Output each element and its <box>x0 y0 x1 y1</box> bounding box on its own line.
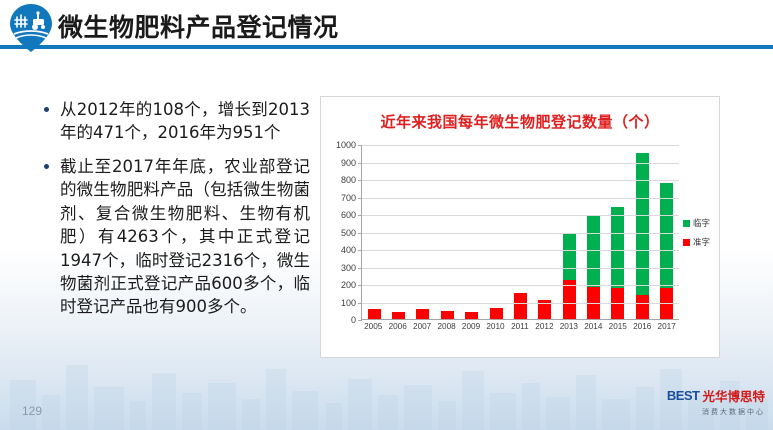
y-axis-tick <box>358 180 362 181</box>
gridline <box>362 145 679 146</box>
y-axis-tick-label: 700 <box>341 193 356 203</box>
gridline <box>362 198 679 199</box>
bar-segment-linzi[interactable] <box>563 234 576 280</box>
bar-segment-zhunzi[interactable] <box>490 308 503 319</box>
gridline <box>362 215 679 216</box>
header-rule-left <box>0 45 46 49</box>
bar-segment-zhunzi[interactable] <box>416 309 429 319</box>
bar-segment-zhunzi[interactable] <box>660 288 673 319</box>
y-axis-tick-label: 300 <box>341 263 356 273</box>
legend-swatch-red <box>683 239 690 246</box>
y-axis-tick <box>358 215 362 216</box>
x-axis-tick-label: 2017 <box>656 322 678 331</box>
y-axis-tick-label: 500 <box>341 228 356 238</box>
bar-segment-linzi[interactable] <box>636 153 649 295</box>
legend-item-zhunzi: 准字 <box>683 236 723 248</box>
legend-label: 临字 <box>693 217 710 229</box>
y-axis-tick <box>358 285 362 286</box>
y-axis-tick <box>358 268 362 269</box>
slide-canvas: 微生物肥料产品登记情况 从2012年的108个，增长到2013年的471个，20… <box>0 0 773 430</box>
y-axis-tick-label: 600 <box>341 210 356 220</box>
page-title: 微生物肥料产品登记情况 <box>58 8 339 44</box>
y-axis-tick <box>358 198 362 199</box>
x-axis-tick-label: 2011 <box>509 322 531 331</box>
legend-label: 准字 <box>693 236 710 248</box>
x-axis-tick-label: 2016 <box>631 322 653 331</box>
bar-segment-zhunzi[interactable] <box>514 293 527 319</box>
chart-panel: 近年来我国每年微生物肥登记数量（个） 100090080070060050040… <box>320 96 720 358</box>
y-axis-tick-label: 200 <box>341 280 356 290</box>
gridline <box>362 250 679 251</box>
gridline <box>362 303 679 304</box>
gridline <box>362 233 679 234</box>
y-axis-tick-label: 100 <box>341 298 356 308</box>
gridline <box>362 180 679 181</box>
bar-segment-zhunzi[interactable] <box>465 312 478 319</box>
y-axis-tick <box>358 145 362 146</box>
y-axis-tick <box>358 303 362 304</box>
legend-swatch-green <box>683 220 690 227</box>
legend-item-linzi: 临字 <box>683 217 723 229</box>
y-axis-tick-label: 400 <box>341 245 356 255</box>
gridline <box>362 285 679 286</box>
page-number: 129 <box>22 404 42 418</box>
footer-brand-logo: BEST 光华博思特 消费大数据中心 <box>657 386 765 422</box>
bullet-item: 从2012年的108个，增长到2013年的471个，2016年为951个 <box>42 98 310 145</box>
y-axis-labels: 10009008007006005004003002001000 <box>325 145 359 320</box>
bar-segment-zhunzi[interactable] <box>611 288 624 319</box>
x-axis-tick-label: 2008 <box>436 322 458 331</box>
bullet-item: 截止至2017年年底，农业部登记的微生物肥料产品（包括微生物菌剂、复合微生物肥料… <box>42 155 310 319</box>
x-axis-tick-label: 2009 <box>460 322 482 331</box>
bar-segment-zhunzi[interactable] <box>392 312 405 319</box>
plot-grid <box>361 145 679 320</box>
bar-segment-zhunzi[interactable] <box>441 311 454 319</box>
y-axis-tick <box>358 163 362 164</box>
gridline <box>362 163 679 164</box>
y-axis-tick-label: 900 <box>341 158 356 168</box>
bar-segment-zhunzi[interactable] <box>636 295 649 320</box>
chart-plot-area: 10009008007006005004003002001000 2005200… <box>325 145 717 353</box>
x-axis-tick-label: 2006 <box>387 322 409 331</box>
y-axis-tick <box>358 250 362 251</box>
y-axis-tick-label: 0 <box>351 315 356 325</box>
bar-segment-linzi[interactable] <box>611 207 624 288</box>
header-rule <box>46 45 773 49</box>
y-axis-tick-label: 1000 <box>336 140 356 150</box>
brand-name-cn: 光华博思特 <box>702 386 765 405</box>
x-axis-tick-label: 2013 <box>558 322 580 331</box>
gridline <box>362 268 679 269</box>
x-axis-tick-label: 2005 <box>362 322 384 331</box>
bullet-list: 从2012年的108个，增长到2013年的471个，2016年为951个 截止至… <box>42 98 310 329</box>
chart-legend: 临字 准字 <box>683 217 723 255</box>
x-axis-tick-label: 2007 <box>411 322 433 331</box>
y-axis-tick <box>358 233 362 234</box>
brand-subtitle: 消费大数据中心 <box>657 407 765 417</box>
bar-segment-zhunzi[interactable] <box>368 309 381 319</box>
slide-header: 微生物肥料产品登记情况 <box>0 0 773 56</box>
bar-segment-linzi[interactable] <box>587 216 600 287</box>
chart-title: 近年来我国每年微生物肥登记数量（个） <box>321 111 719 132</box>
x-axis-tick-label: 2012 <box>533 322 555 331</box>
x-axis-labels: 2005200620072008200920102011201220132014… <box>361 322 679 331</box>
x-axis-tick-label: 2015 <box>607 322 629 331</box>
y-axis-tick <box>358 320 362 321</box>
x-axis-tick-label: 2014 <box>582 322 604 331</box>
brand-mark: BEST <box>667 388 700 403</box>
y-axis-tick-label: 800 <box>341 175 356 185</box>
x-axis-tick-label: 2010 <box>484 322 506 331</box>
